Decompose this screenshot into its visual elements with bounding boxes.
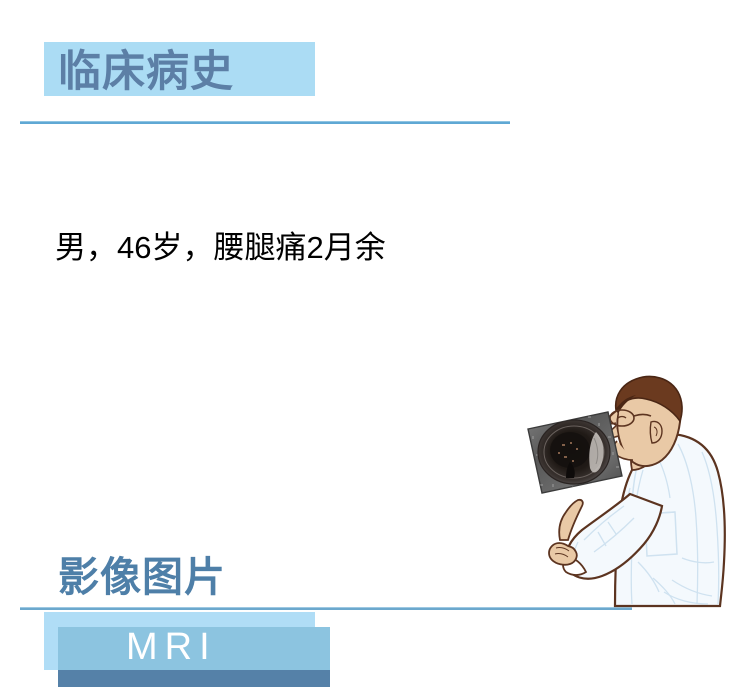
mri-film (528, 412, 622, 493)
mri-modality-label: MRI (126, 624, 217, 670)
clinical-history-body-text: 男，46岁，腰腿痛2月余 (55, 228, 386, 268)
slide-canvas: 临床病史 男，46岁，腰腿痛2月余 影像图片 MRI (0, 0, 751, 696)
doctor-viewing-mri-film-illustration (512, 366, 748, 612)
mri-banner-dark-layer (58, 670, 330, 687)
imaging-heading: 影像图片 (58, 557, 226, 598)
clinical-history-heading: 临床病史 (58, 51, 234, 94)
clinical-history-divider (20, 121, 510, 124)
